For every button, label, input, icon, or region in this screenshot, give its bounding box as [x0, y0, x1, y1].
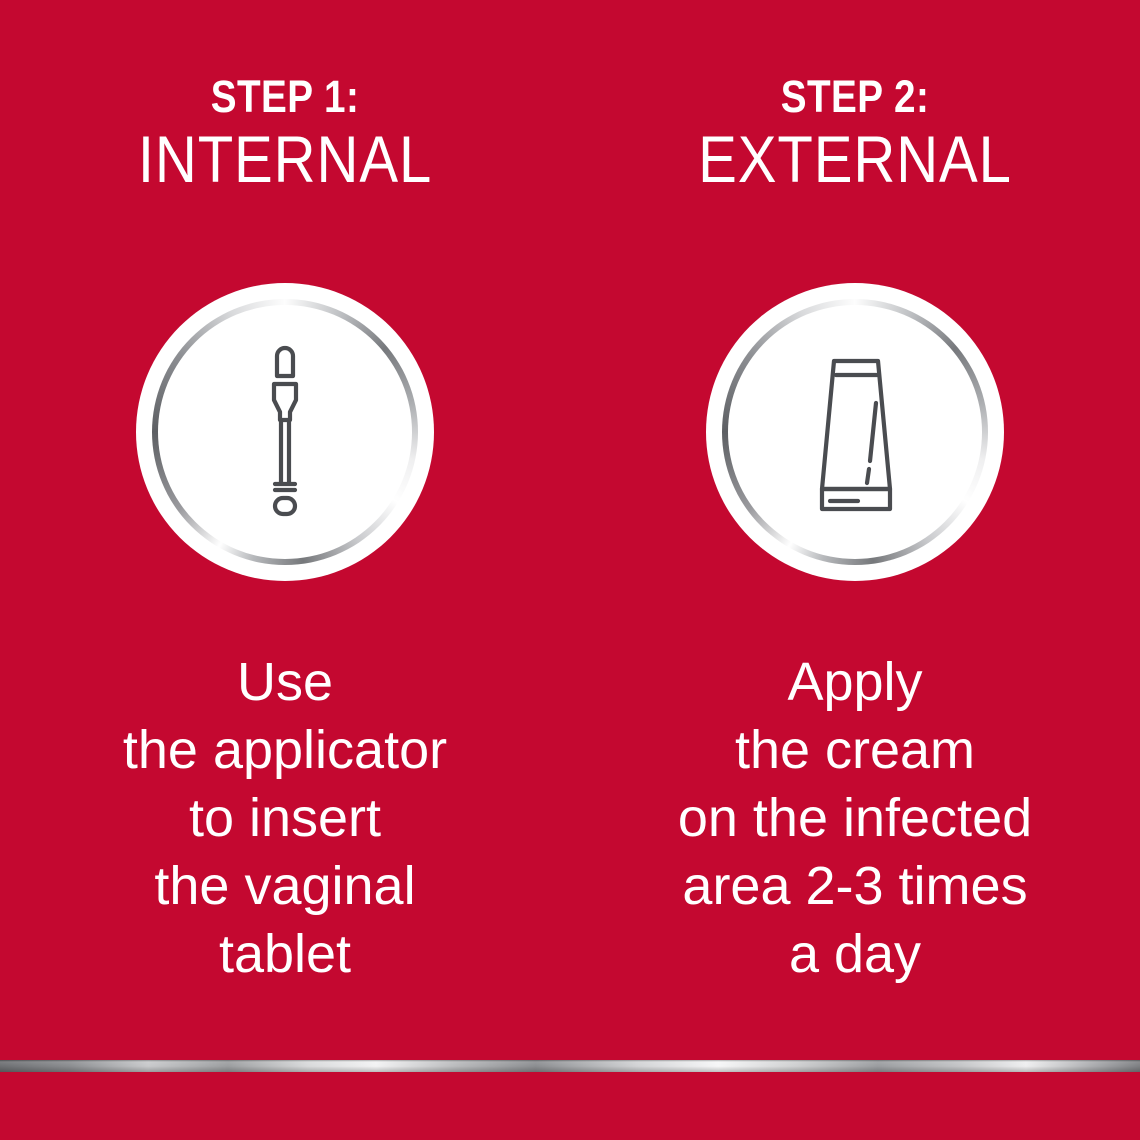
step-2-name: EXTERNAL: [604, 122, 1106, 196]
step-1-name: INTERNAL: [34, 122, 536, 196]
step-2-label: STEP 2:: [610, 72, 1100, 122]
step-panel-2: STEP 2: EXTERNAL Apply the: [570, 0, 1140, 1140]
step-1-body-line-3: to insert: [0, 784, 570, 852]
step-1-heading: STEP 1: INTERNAL: [0, 72, 570, 196]
step-1-body: Use the applicator to insert the vaginal…: [0, 648, 570, 988]
step-1-label: STEP 1:: [40, 72, 530, 122]
step-2-body-line-3: on the infected: [570, 784, 1140, 852]
step-1-body-line-1: Use: [0, 648, 570, 716]
cream-tube-icon: [706, 283, 1004, 581]
step-1-body-line-4: the vaginal: [0, 852, 570, 920]
vaginal-applicator-glyph: [245, 332, 325, 532]
step-2-body-line-2: the cream: [570, 716, 1140, 784]
step-2-heading: STEP 2: EXTERNAL: [570, 72, 1140, 196]
metallic-divider-bar: [0, 1060, 1140, 1072]
step-2-body-line-4: area 2-3 times: [570, 852, 1140, 920]
step-1-icon-badge: [136, 283, 434, 581]
step-2-body: Apply the cream on the infected area 2-3…: [570, 648, 1140, 988]
step-2-body-line-1: Apply: [570, 648, 1140, 716]
cream-tube-glyph: [800, 347, 910, 517]
vaginal-applicator-icon: [136, 283, 434, 581]
step-1-body-line-5: tablet: [0, 920, 570, 988]
step-2-icon-badge: [706, 283, 1004, 581]
step-2-body-line-5: a day: [570, 920, 1140, 988]
step-panel-1: STEP 1: INTERNAL Use the ap: [0, 0, 570, 1140]
instructional-infographic: { "theme": { "background_color": "#C4083…: [0, 0, 1140, 1140]
step-1-body-line-2: the applicator: [0, 716, 570, 784]
